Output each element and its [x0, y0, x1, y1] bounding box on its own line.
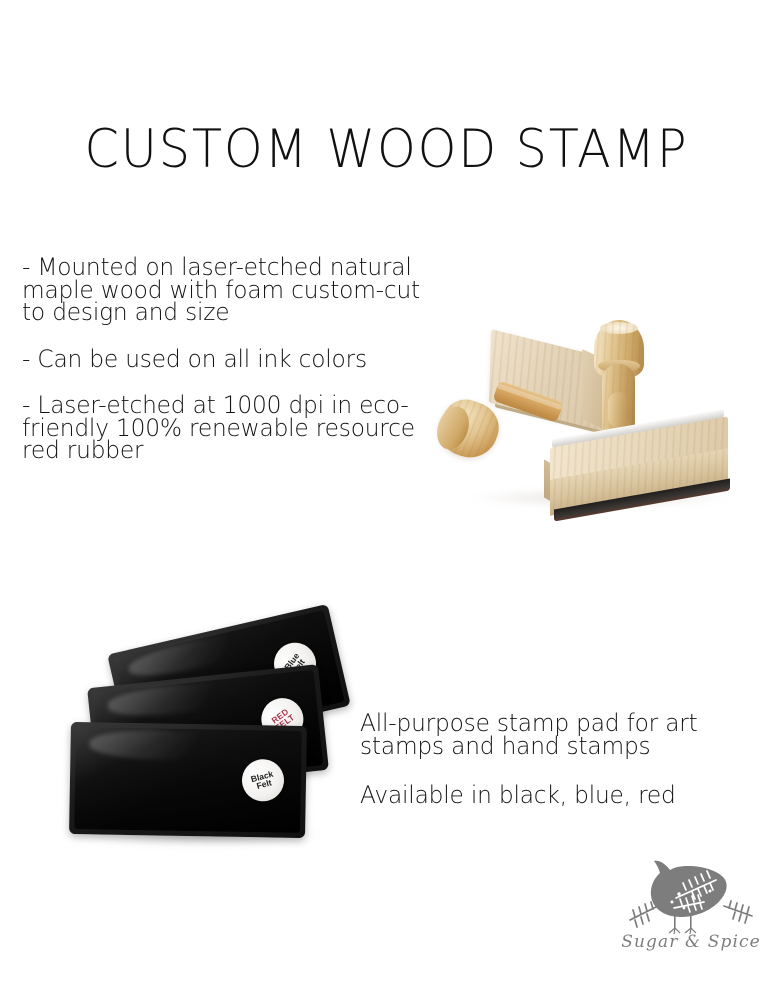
feature-list: - Mounted on laser-etched natural maple …: [22, 256, 442, 462]
pad-copy-availability: Available in black, blue, red: [360, 784, 738, 807]
wood-stamp-front: [432, 292, 772, 520]
page-title: CUSTOM WOOD STAMP: [27, 122, 746, 178]
black-felt-pad: Black Felt: [69, 722, 307, 838]
brand-logo: Sugar & Spice: [616, 858, 766, 974]
brand-name: Sugar & Spice: [616, 932, 766, 952]
product-listing-page: CUSTOM WOOD STAMP - Mounted on laser-etc…: [0, 0, 773, 1000]
feature-item-etching: - Laser-etched at 1000 dpi in eco-friend…: [22, 394, 429, 462]
wood-stamps-photo: [432, 292, 772, 520]
feature-item-ink-colors: - Can be used on all ink colors: [22, 348, 429, 371]
pad-copy-purpose: All-purpose stamp pad for art stamps and…: [360, 712, 738, 758]
stamp-handle-waist: [608, 392, 629, 428]
bird-icon: [624, 858, 758, 934]
stamp-pad-description: All-purpose stamp pad for art stamps and…: [360, 712, 750, 807]
ink-pads-photo: Blue Felt RED FELT Black Felt: [70, 628, 346, 860]
feature-item-mounting: - Mounted on laser-etched natural maple …: [22, 256, 429, 324]
pad-label-line2: Felt: [256, 778, 273, 790]
